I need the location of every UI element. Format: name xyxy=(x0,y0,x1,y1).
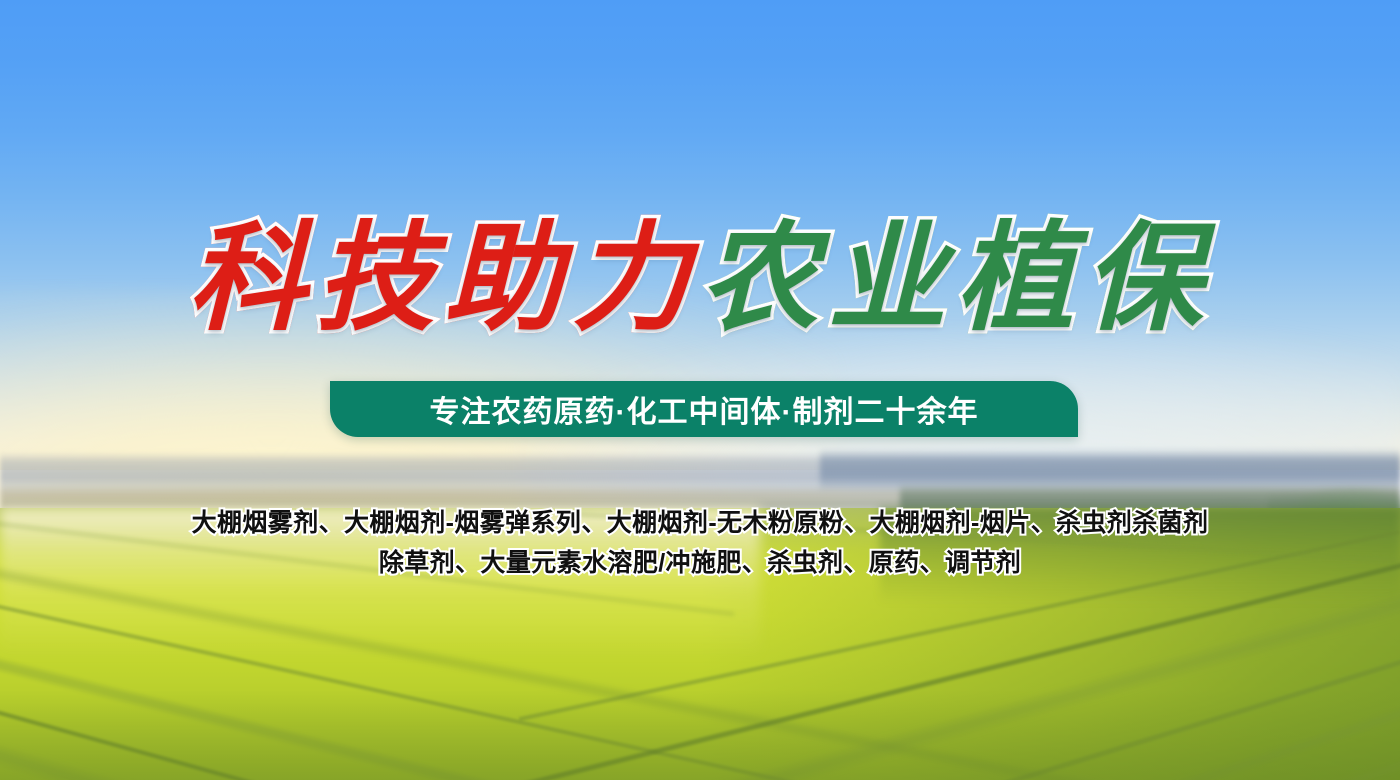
product-line-1: 大棚烟雾剂、大棚烟剂-烟雾弹系列、大棚烟剂-无木粉原粉、大棚烟剂-烟片、杀虫剂杀… xyxy=(0,503,1400,539)
subtitle-badge: 专注农药原药·化工中间体·制剂二十余年 xyxy=(330,381,1078,437)
headline-green-text: 农业植保 xyxy=(700,208,1212,352)
agriculture-hero-banner: 科技助力农业植保 专注农药原药·化工中间体·制剂二十余年 大棚烟雾剂、大棚烟剂-… xyxy=(0,0,1400,780)
product-line-2: 除草剂、大量元素水溶肥/冲施肥、杀虫剂、原药、调节剂 xyxy=(0,543,1400,579)
crop-field-bottom-shade xyxy=(0,690,1400,780)
page-title: 科技助力农业植保 xyxy=(0,208,1400,352)
headline-red-text: 科技助力 xyxy=(188,208,700,352)
subtitle-text: 专注农药原药·化工中间体·制剂二十余年 xyxy=(430,387,979,431)
